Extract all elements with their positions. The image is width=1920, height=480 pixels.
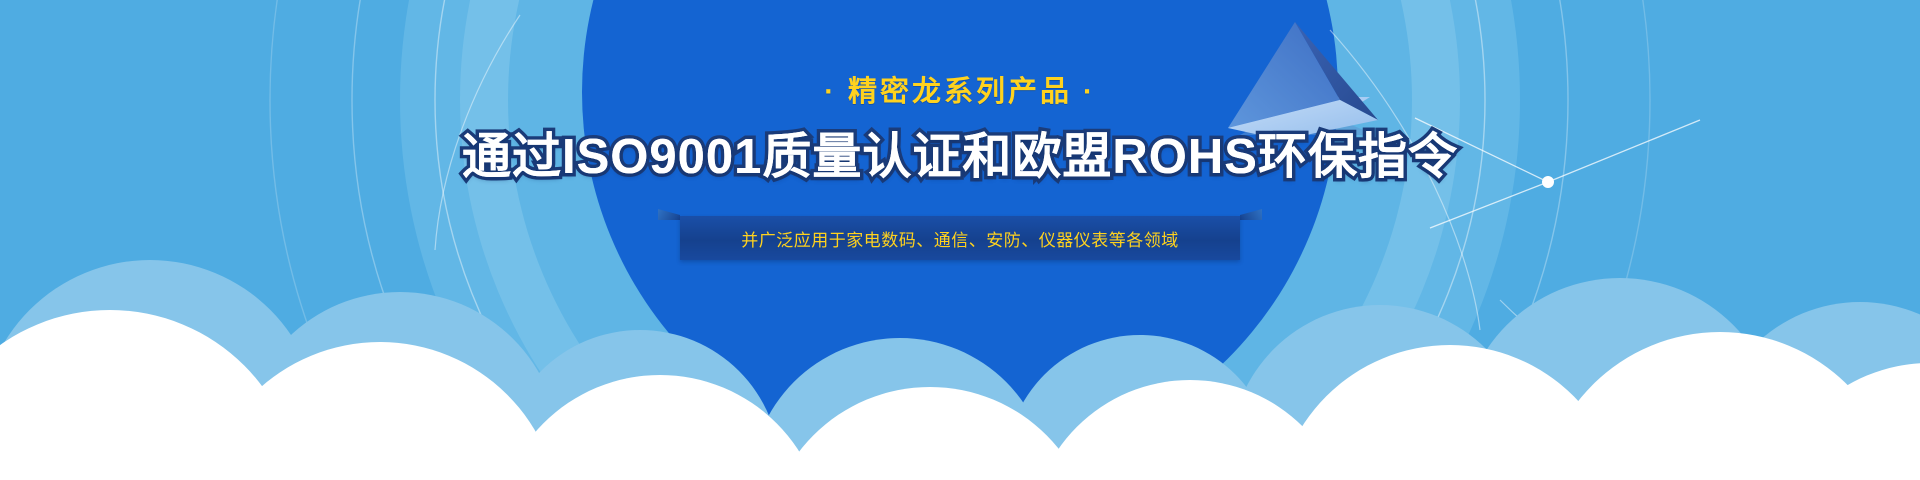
- promo-banner: · 精密龙系列产品 · 通过ISO9001质量认证和欧盟ROHS环保指令 通过I…: [0, 0, 1920, 480]
- decor-dots-right: [1542, 176, 1554, 188]
- banner-background-art: [0, 0, 1920, 480]
